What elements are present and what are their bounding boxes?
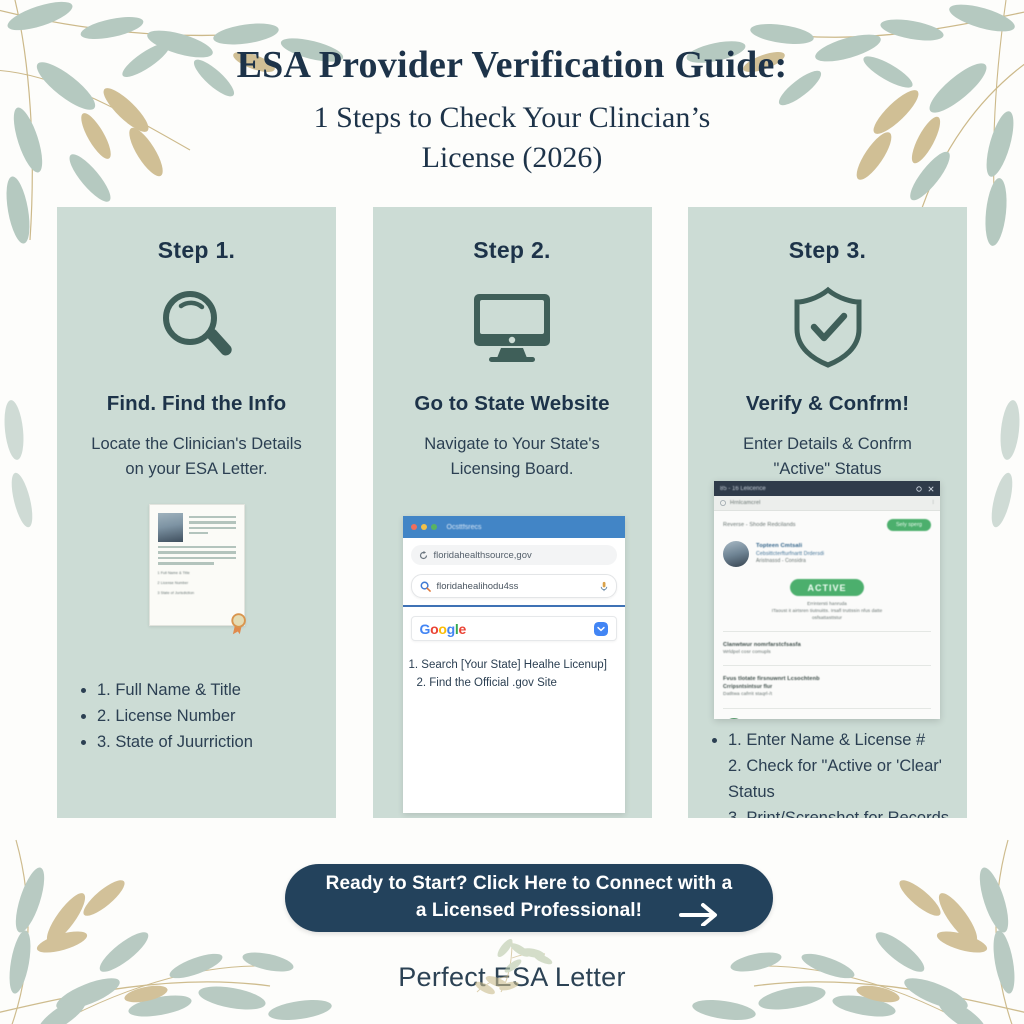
browser-search-field[interactable]: floridahealihodu4ss — [411, 574, 617, 598]
browser-instructions: 1. Search [Your State] Healhe Licenup] 2… — [403, 641, 625, 693]
step-2-description: Navigate to Your State's Licensing Board… — [373, 432, 652, 482]
award-seal-icon — [226, 609, 252, 635]
status-badge: ACTIVE — [790, 579, 864, 596]
step-3-label: Step 3. — [688, 237, 967, 264]
verify-window-content: Reverse - Shode Redcilands Sely sperg To… — [714, 511, 940, 719]
step-2-description-line-2: Licensing Board. — [387, 457, 638, 482]
window-close-dot[interactable] — [411, 524, 417, 530]
step-2-headline: Go to State Website — [373, 392, 652, 416]
esa-letter-document-mock: 1 Full Name & Title 2 License Number 3 S… — [149, 504, 245, 626]
step-3-headline: Verify & Confrm! — [688, 392, 967, 416]
status-note-1: Errintersti hanruda — [723, 601, 931, 608]
breadcrumb: Reverse - Shode Redcilands — [723, 521, 796, 529]
gear-icon[interactable] — [916, 486, 922, 492]
browser-step-1: 1. Search [Your State] Healhe Licenup] — [409, 657, 619, 675]
doc-item-1: 1 Full Name & Title — [158, 571, 236, 575]
clinician-profile: Topteen Cmtsali Cebsittcterfturfnartt Dr… — [723, 541, 931, 567]
page-subtitle-line-2: License (2026) — [0, 138, 1024, 178]
reload-icon[interactable] — [419, 551, 428, 560]
monitor-icon — [373, 284, 652, 370]
browser-step-2: 2. Find the Official .gov Site — [409, 675, 619, 693]
step-1-description-line-2: on your ESA Letter. — [71, 457, 322, 482]
list-item: 3. Print/Screnshot for Records — [728, 805, 953, 818]
status-note-2: ITaoust it airtsren tiutnuitts. Irsafl t… — [723, 608, 931, 615]
chevron-down-icon[interactable] — [594, 622, 608, 636]
step-1-description-line-1: Locate the Clinician's Details — [71, 432, 322, 457]
step-card-2: Step 2. Go to State Website Navigate to … — [373, 207, 652, 818]
browser-window-mock: Ocsttfsrecs floridahealthsource,gov flor… — [403, 516, 625, 813]
step-card-1: Step 1. Find. Find the Info Locate the C… — [57, 207, 336, 818]
brand-name: Perfect ESA Letter — [398, 962, 626, 993]
close-icon[interactable] — [928, 486, 934, 492]
page-subtitle-line-1: 1 Steps to Check Your Clincian’s — [0, 98, 1024, 138]
profile-meta: Aristnassd - Considra — [756, 558, 824, 566]
browser-search-value: floridahealihodu4ss — [437, 581, 594, 592]
footer: Perfect ESA Letter — [0, 962, 1024, 993]
magnifier-icon — [57, 284, 336, 370]
section-1-text: Wrldpel cosr comupls — [723, 649, 931, 656]
arrow-right-icon — [679, 896, 721, 926]
window-maximize-dot[interactable] — [431, 524, 437, 530]
browser-url-value: floridahealthsource,gov — [434, 550, 532, 561]
clinician-photo — [158, 513, 183, 542]
verify-window-title: 85 - 16 Lelicence — [720, 486, 766, 492]
search-icon — [420, 581, 431, 592]
browser-tab-title: Ocsttfsrecs — [447, 524, 482, 531]
page-title: ESA Provider Verification Guide: — [0, 44, 1024, 88]
verify-url-value: Hrnlcamcrel — [730, 499, 760, 507]
step-3-description-line-1: Enter Details & Confrm — [702, 432, 953, 457]
status-note-3: osfsattasttstur — [723, 615, 931, 622]
step-1-headline: Find. Find the Info — [57, 392, 336, 416]
list-item: 3. State of Juurriction — [97, 729, 322, 755]
section-1-title: Clanwtwur nomrfarstcfsasfa — [723, 641, 931, 649]
verify-url-row[interactable]: Hrnlcamcrel ⫶ — [714, 496, 940, 511]
section-2-text: Datltwa cafrrit staqrl-/t — [723, 691, 931, 698]
lock-icon — [720, 500, 726, 506]
step-3-bullets: 1. Enter Name & License # 2. Check for "… — [688, 727, 967, 818]
verified-seal-icon — [723, 718, 745, 719]
browser-url-bar[interactable]: floridahealthsource,gov — [411, 545, 617, 565]
doc-item-2: 2 License Number — [158, 581, 236, 585]
browser-titlebar: Ocsttfsrecs — [403, 516, 625, 538]
list-item: 1. Full Name & Title — [97, 677, 322, 703]
infographic-page: ESA Provider Verification Guide: 1 Steps… — [0, 0, 1024, 1024]
profile-name: Topteen Cmtsali — [756, 542, 824, 551]
cta-label-line-1: Ready to Start? Click Here to Connect wi… — [326, 871, 733, 898]
list-item: 2. Check for "Active or 'Clear' Status — [728, 753, 953, 805]
license-lookup-window-mock: 85 - 16 Lelicence — [714, 481, 940, 719]
step-1-description: Locate the Clinician's Details on your E… — [57, 432, 336, 482]
google-search-row[interactable]: Google — [411, 616, 617, 641]
cta-button[interactable]: Ready to Start? Click Here to Connect wi… — [285, 864, 773, 932]
list-item: 1. Enter Name & License # — [728, 727, 953, 753]
step-1-label: Step 1. — [57, 237, 336, 264]
section-2-subtitle: Crripsntsintsur flur — [723, 684, 931, 692]
steps-container: Step 1. Find. Find the Info Locate the C… — [57, 207, 967, 818]
doc-item-3: 3 State of Jurisdiction — [158, 591, 236, 595]
avatar — [723, 541, 749, 567]
section-2-title: Fvus tlotate firsnuwnrt Lcsochtenb — [723, 675, 931, 683]
page-subtitle: 1 Steps to Check Your Clincian’s License… — [0, 98, 1024, 178]
olive-sprig-icon — [457, 938, 567, 1000]
window-minimize-dot[interactable] — [421, 524, 427, 530]
verify-menu-icon[interactable]: ⫶ — [932, 499, 934, 508]
microphone-icon[interactable] — [600, 581, 608, 592]
step-2-label: Step 2. — [373, 237, 652, 264]
google-logo-icon: Google — [420, 621, 466, 637]
step-2-description-line-1: Navigate to Your State's — [387, 432, 638, 457]
header: ESA Provider Verification Guide: 1 Steps… — [0, 44, 1024, 177]
list-item: 2. License Number — [97, 703, 322, 729]
profile-role: Cebsittcterfturfnartt Drdersdi — [756, 551, 824, 559]
search-pill-button[interactable]: Sely sperg — [887, 519, 931, 531]
shield-check-icon — [688, 284, 967, 370]
browser-divider — [403, 605, 625, 607]
cta-label-line-2: a Licensed Professional! — [326, 898, 733, 925]
step-3-description-line-2: "Active" Status — [702, 457, 953, 482]
step-3-description: Enter Details & Confrm "Active" Status — [688, 432, 967, 482]
verify-window-titlebar: 85 - 16 Lelicence — [714, 481, 940, 496]
step-card-3: Step 3. Verify & Confrm! Enter Details &… — [688, 207, 967, 818]
step-1-bullets: 1. Full Name & Title 2. License Number 3… — [57, 677, 336, 755]
